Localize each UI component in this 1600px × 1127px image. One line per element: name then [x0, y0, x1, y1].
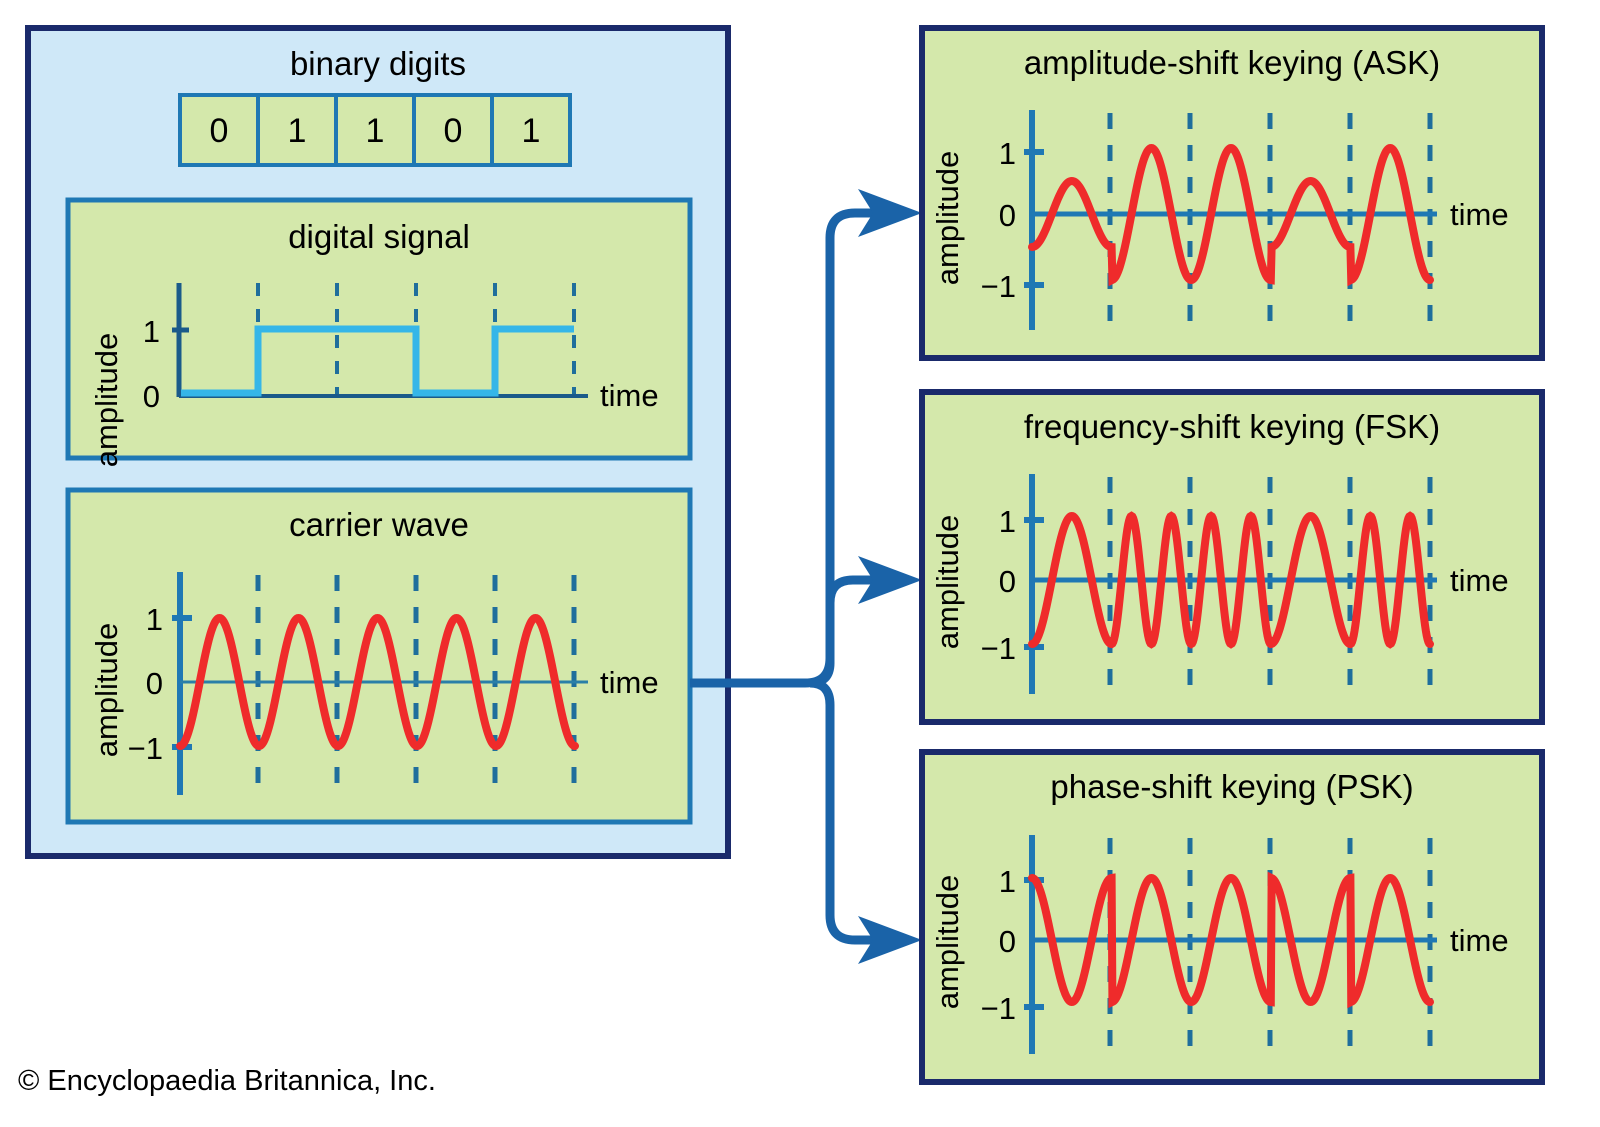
binary-digit-value: 1 — [366, 112, 385, 150]
ask-x-axis-label: time — [1450, 197, 1509, 232]
psk-panel: phase-shift keying (PSK) amplitude 1 0 −… — [922, 752, 1542, 1082]
carrier-wave-ytick-neg1: −1 — [128, 731, 163, 766]
psk-y-axis-label: amplitude — [930, 875, 965, 1009]
connector-branch-bottom — [810, 683, 880, 940]
diagram-canvas: binary digits 0 1 1 0 1 digital signal a… — [0, 0, 1600, 1127]
ask-panel: amplitude-shift keying (ASK) amplitude 1… — [922, 28, 1542, 358]
fsk-ytick-1: 1 — [999, 504, 1016, 539]
modulation-diagram: binary digits 0 1 1 0 1 digital signal a… — [0, 0, 1600, 1127]
fsk-ytick-neg1: −1 — [981, 631, 1016, 666]
ask-title: amplitude-shift keying (ASK) — [1024, 44, 1440, 81]
psk-ytick-0: 0 — [999, 924, 1016, 959]
psk-x-axis-label: time — [1450, 923, 1509, 958]
carrier-wave-y-axis-label: amplitude — [89, 623, 124, 757]
psk-ytick-neg1: −1 — [981, 991, 1016, 1026]
digital-signal-panel: digital signal amplitude 1 0 time — [68, 200, 690, 467]
credit-line: © Encyclopaedia Britannica, Inc. — [18, 1065, 436, 1097]
binary-digit-value: 1 — [522, 112, 541, 150]
ask-y-axis-label: amplitude — [930, 151, 965, 285]
fsk-y-axis-label: amplitude — [930, 515, 965, 649]
carrier-wave-title: carrier wave — [289, 506, 469, 543]
fsk-x-axis-label: time — [1450, 563, 1509, 598]
binary-digit-value: 0 — [444, 112, 463, 150]
carrier-wave-panel: carrier wave amplitude 1 0 −1 time — [68, 490, 690, 822]
digital-signal-x-axis-label: time — [600, 378, 659, 413]
fsk-panel: frequency-shift keying (FSK) amplitude 1… — [922, 392, 1542, 722]
binary-digit-value: 0 — [210, 112, 229, 150]
digital-signal-title: digital signal — [288, 218, 470, 255]
fsk-ytick-0: 0 — [999, 564, 1016, 599]
ask-ytick-neg1: −1 — [981, 269, 1016, 304]
carrier-wave-ytick-1: 1 — [146, 602, 163, 637]
psk-title: phase-shift keying (PSK) — [1050, 768, 1413, 805]
binary-digit-row: 0 1 1 0 1 — [180, 95, 570, 165]
carrier-wave-x-axis-label: time — [600, 665, 659, 700]
carrier-wave-ytick-0: 0 — [146, 666, 163, 701]
binary-digits-title: binary digits — [290, 45, 466, 82]
binary-digit-value: 1 — [288, 112, 307, 150]
ask-ytick-0: 0 — [999, 198, 1016, 233]
digital-signal-y-axis-label: amplitude — [89, 333, 124, 467]
digital-signal-ytick-0: 0 — [143, 379, 160, 414]
psk-ytick-1: 1 — [999, 864, 1016, 899]
digital-signal-ytick-1: 1 — [143, 314, 160, 349]
ask-ytick-1: 1 — [999, 136, 1016, 171]
fsk-title: frequency-shift keying (FSK) — [1024, 408, 1440, 445]
